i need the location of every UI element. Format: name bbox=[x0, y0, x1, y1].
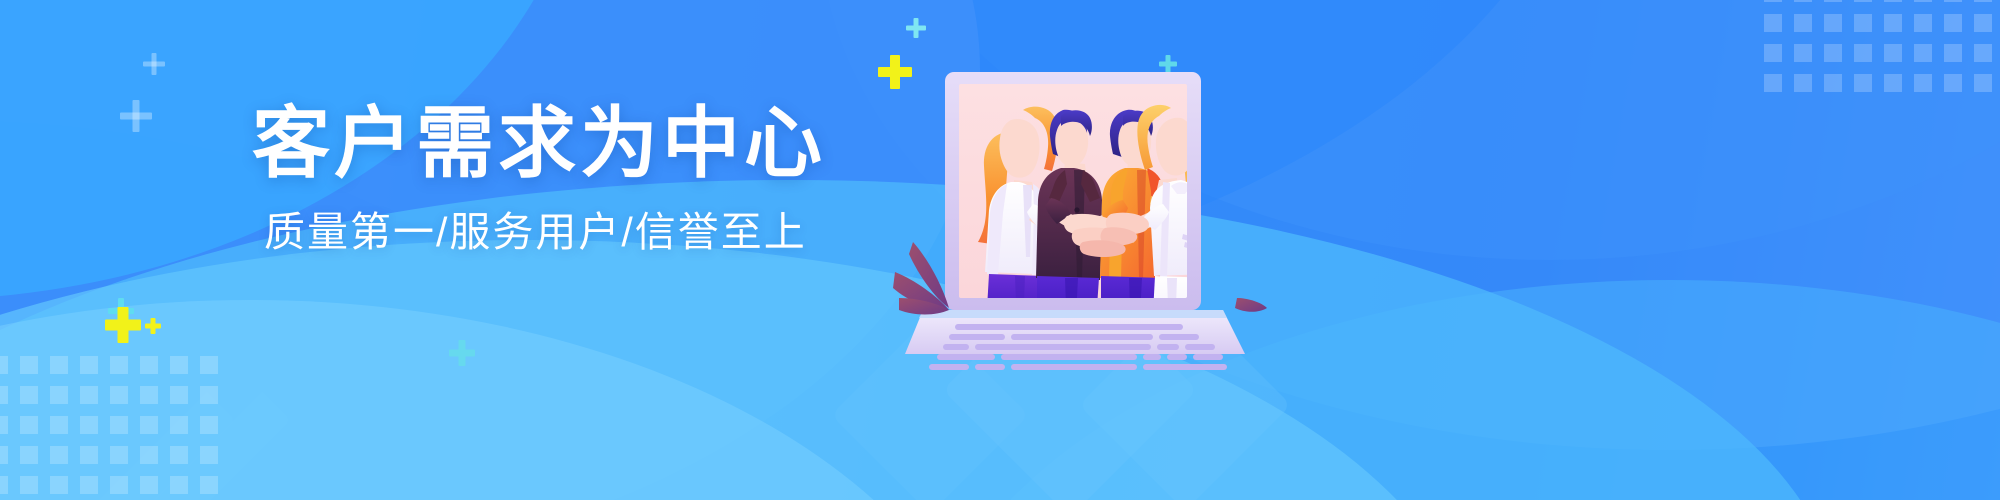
plus-icon-cyan-top bbox=[906, 18, 926, 38]
dot-grid-bottom-left bbox=[0, 356, 218, 494]
plus-icon-cyan-center-bottom bbox=[449, 340, 475, 366]
plus-icon-faint-top-left bbox=[143, 53, 165, 75]
plus-icon-faint-left bbox=[120, 100, 152, 132]
leaf-decoration-left bbox=[893, 242, 949, 315]
dot-grid-top-right bbox=[1764, 0, 1992, 92]
plus-icon-yellow-small bbox=[145, 318, 161, 334]
subtitle: 质量第一/服务用户/信誉至上 bbox=[264, 210, 812, 255]
laptop-illustration bbox=[915, 58, 1305, 358]
plus-icon-yellow-top bbox=[878, 55, 912, 89]
page-title: 客户需求为中心 bbox=[252, 104, 812, 184]
copy-block: 客户需求为中心 质量第一/服务用户/信誉至上 bbox=[252, 104, 812, 255]
plus-icon-yellow-large bbox=[105, 307, 141, 343]
promo-banner: 客户需求为中心 质量第一/服务用户/信誉至上 bbox=[0, 0, 2000, 500]
leaf-decoration-right bbox=[1235, 298, 1267, 312]
